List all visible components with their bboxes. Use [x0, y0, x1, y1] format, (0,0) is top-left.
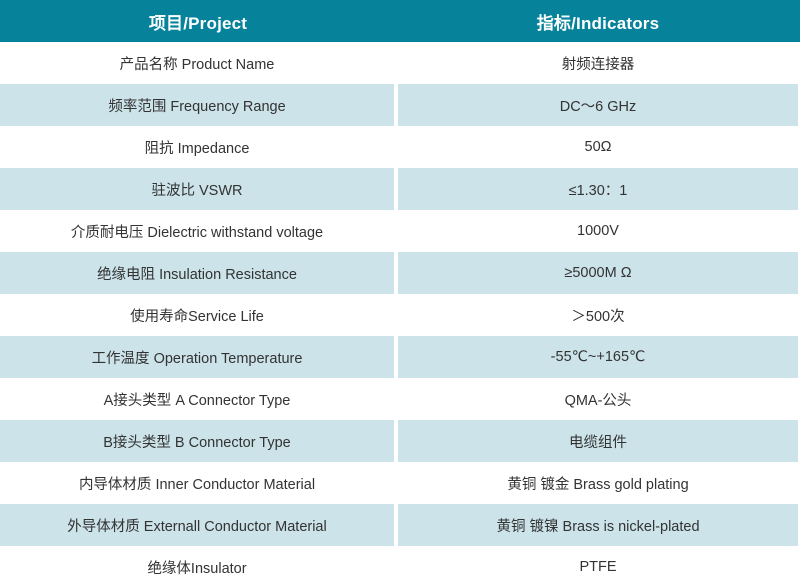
cell-project: 工作温度 Operation Temperature — [0, 336, 396, 378]
cell-indicator: 1000V — [396, 210, 800, 252]
table-row: B接头类型 B Connector Type电缆组件 — [0, 420, 800, 462]
cell-project: 使用寿命Service Life — [0, 294, 396, 336]
table-row: 驻波比 VSWR≤1.30：1 — [0, 168, 800, 210]
cell-project: 绝缘体Insulator — [0, 546, 396, 588]
table-row: 使用寿命Service Life＞500次 — [0, 294, 800, 336]
specification-table: 项目/Project 指标/Indicators 产品名称 Product Na… — [0, 0, 800, 588]
column-header-project: 项目/Project — [0, 0, 396, 42]
table-row: 介质耐电压 Dielectric withstand voltage1000V — [0, 210, 800, 252]
cell-indicator: 50Ω — [396, 126, 800, 168]
cell-project: 驻波比 VSWR — [0, 168, 396, 210]
cell-project: 介质耐电压 Dielectric withstand voltage — [0, 210, 396, 252]
table-row: 绝缘电阻 Insulation Resistance≥5000M Ω — [0, 252, 800, 294]
cell-indicator: 黄铜 镀金 Brass gold plating — [396, 462, 800, 504]
cell-indicator: 电缆组件 — [396, 420, 800, 462]
table-row: 频率范围 Frequency RangeDC～6 GHz — [0, 84, 800, 126]
table-row: 内导体材质 Inner Conductor Material黄铜 镀金 Bras… — [0, 462, 800, 504]
cell-project: B接头类型 B Connector Type — [0, 420, 396, 462]
column-header-indicators: 指标/Indicators — [396, 0, 800, 42]
table-header: 项目/Project 指标/Indicators — [0, 0, 800, 42]
cell-indicator: ≤1.30：1 — [396, 168, 800, 210]
cell-project: 产品名称 Product Name — [0, 42, 396, 84]
cell-project: 阻抗 Impedance — [0, 126, 396, 168]
table-row: 外导体材质 Externall Conductor Material黄铜 镀镍 … — [0, 504, 800, 546]
cell-indicator: QMA-公头 — [396, 378, 800, 420]
cell-indicator: ≥5000M Ω — [396, 252, 800, 294]
table-row: 绝缘体InsulatorPTFE — [0, 546, 800, 588]
cell-project: 内导体材质 Inner Conductor Material — [0, 462, 396, 504]
cell-indicator: DC～6 GHz — [396, 84, 800, 126]
table-body: 产品名称 Product Name射频连接器频率范围 Frequency Ran… — [0, 42, 800, 588]
table-header-row: 项目/Project 指标/Indicators — [0, 0, 800, 42]
cell-project: 绝缘电阻 Insulation Resistance — [0, 252, 396, 294]
table-row: 工作温度 Operation Temperature-55℃~+165℃ — [0, 336, 800, 378]
cell-indicator: ＞500次 — [396, 294, 800, 336]
cell-indicator: 黄铜 镀镍 Brass is nickel-plated — [396, 504, 800, 546]
cell-project: A接头类型 A Connector Type — [0, 378, 396, 420]
cell-project: 频率范围 Frequency Range — [0, 84, 396, 126]
cell-project: 外导体材质 Externall Conductor Material — [0, 504, 396, 546]
table-row: 阻抗 Impedance50Ω — [0, 126, 800, 168]
cell-indicator: -55℃~+165℃ — [396, 336, 800, 378]
cell-indicator: 射频连接器 — [396, 42, 800, 84]
cell-indicator: PTFE — [396, 546, 800, 588]
table-row: A接头类型 A Connector TypeQMA-公头 — [0, 378, 800, 420]
table-row: 产品名称 Product Name射频连接器 — [0, 42, 800, 84]
